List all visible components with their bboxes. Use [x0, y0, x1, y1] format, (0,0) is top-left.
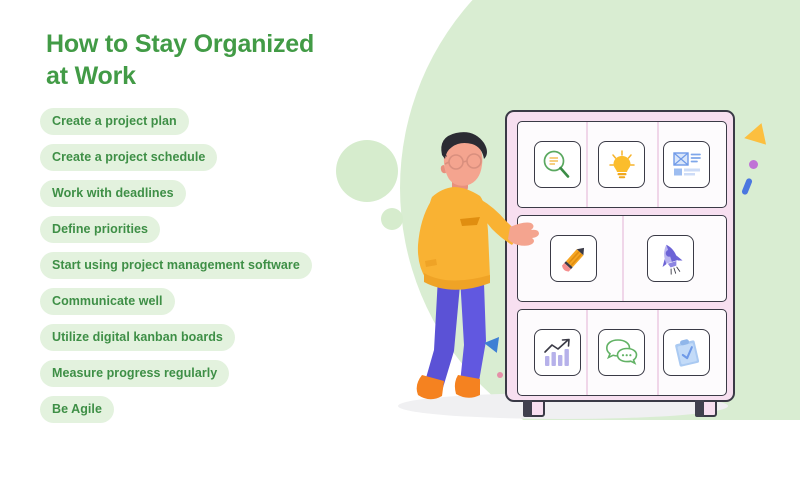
- clipboard-check-icon: [671, 337, 703, 369]
- bar-chart-growth-icon: [541, 338, 573, 368]
- tip-pill[interactable]: Define priorities: [40, 216, 160, 243]
- shelf-row-2: [517, 215, 727, 302]
- rocket-icon-tile[interactable]: [647, 235, 694, 282]
- tip-pill[interactable]: Create a project plan: [40, 108, 189, 135]
- lightbulb-icon: [606, 149, 638, 181]
- page-title: How to Stay Organized at Work: [46, 28, 346, 92]
- speech-bubbles-icon: [605, 338, 639, 368]
- pencil-icon-tile[interactable]: [550, 235, 597, 282]
- clipboard-check-icon-tile[interactable]: [663, 329, 710, 376]
- cabinet-leg-right-dark: [695, 400, 704, 417]
- tip-pill[interactable]: Measure progress regularly: [40, 360, 229, 387]
- shoe-front: [455, 375, 480, 398]
- wireframe-layout-icon: [671, 150, 703, 180]
- decoration-dot-purple: [749, 160, 758, 169]
- shelf-row-1: [517, 121, 727, 208]
- shelf-row-3: [517, 309, 727, 396]
- speech-bubbles-icon-tile[interactable]: [598, 329, 645, 376]
- tip-pill[interactable]: Communicate well: [40, 288, 175, 315]
- tip-pill[interactable]: Utilize digital kanban boards: [40, 324, 235, 351]
- tip-pill[interactable]: Work with deadlines: [40, 180, 186, 207]
- decoration-triangle-yellow: [742, 123, 766, 149]
- character-illustration: [398, 135, 528, 410]
- text-column: How to Stay Organized at Work Create a p…: [0, 0, 400, 485]
- tips-list: Create a project planCreate a project sc…: [40, 108, 390, 423]
- tip-pill[interactable]: Be Agile: [40, 396, 114, 423]
- magnifier-document-icon-tile[interactable]: [534, 141, 581, 188]
- wireframe-layout-icon-tile[interactable]: [663, 141, 710, 188]
- tip-pill[interactable]: Create a project schedule: [40, 144, 217, 171]
- pencil-icon: [557, 242, 591, 276]
- infographic-canvas: How to Stay Organized at Work Create a p…: [0, 0, 800, 485]
- decoration-triangle-blue: [483, 335, 499, 353]
- bar-chart-growth-icon-tile[interactable]: [534, 329, 581, 376]
- tip-pill[interactable]: Start using project management software: [40, 252, 312, 279]
- page-title-line-1: How to Stay Organized: [46, 28, 346, 60]
- cabinet-body: [505, 110, 735, 402]
- rocket-icon: [654, 242, 688, 276]
- shelf-cabinet: [505, 110, 735, 402]
- page-title-line-2: at Work: [46, 60, 346, 92]
- lightbulb-icon-tile[interactable]: [598, 141, 645, 188]
- magnifier-document-icon: [540, 148, 574, 182]
- leg-back: [424, 277, 460, 391]
- leg-front: [460, 277, 486, 387]
